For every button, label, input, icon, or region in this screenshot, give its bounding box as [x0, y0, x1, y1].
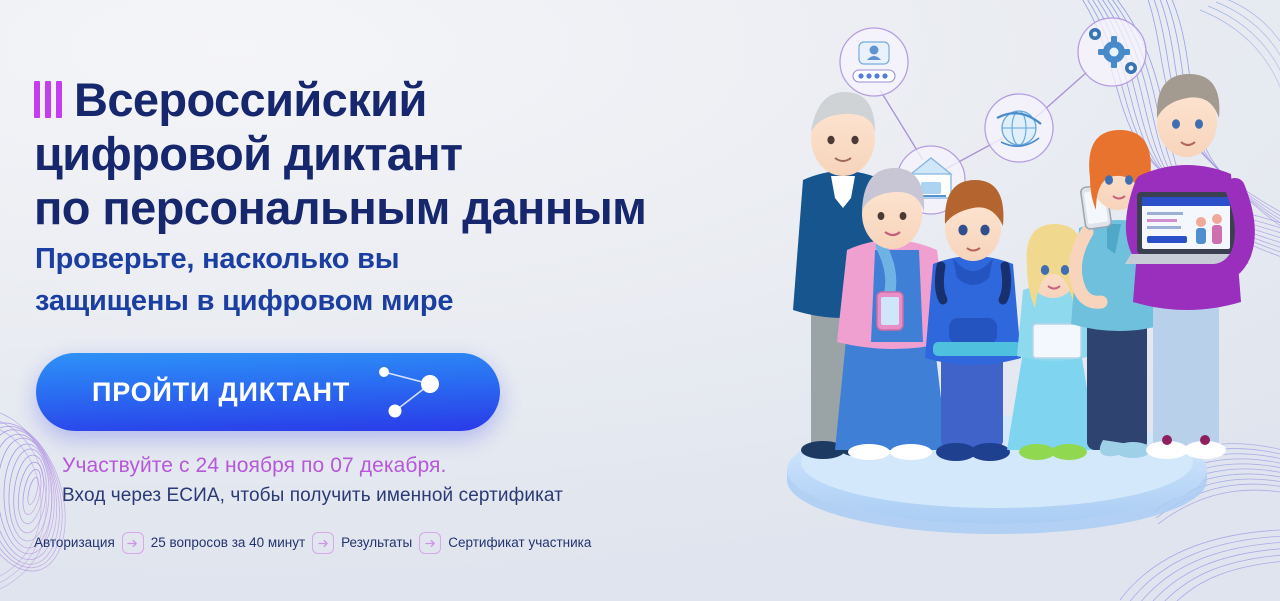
network-nodes-icon [372, 360, 448, 425]
step-label-3: Результаты [341, 534, 412, 552]
password-lock-node-icon [840, 28, 908, 96]
step-label-4: Сертификат участника [448, 534, 591, 552]
page-title: Всероссийский цифровой диктант по персон… [34, 73, 694, 235]
gears-settings-node-icon [1078, 18, 1146, 86]
headline-line-1: Всероссийский [34, 73, 694, 127]
arrow-right-icon [312, 532, 334, 554]
subtitle-line-2: защищены в цифровом мире [35, 280, 595, 322]
globe-network-node-icon [985, 94, 1053, 162]
headline-text-1: Всероссийский [74, 73, 427, 126]
arrow-right-icon [122, 532, 144, 554]
steps-flow: Авторизация 25 вопросов за 40 минут Резу… [34, 532, 591, 554]
headline-line-3: по персональным данным [34, 181, 694, 235]
step-label-2: 25 вопросов за 40 минут [151, 534, 305, 552]
subtitle: Проверьте, насколько вы защищены в цифро… [35, 238, 595, 322]
step-label-1: Авторизация [34, 534, 115, 552]
three-bars-logo-icon [34, 81, 62, 118]
cta-button-label: ПРОЙТИ ДИКТАНТ [92, 377, 350, 408]
headline-line-2: цифровой диктант [34, 127, 694, 181]
subtitle-line-1: Проверьте, насколько вы [35, 238, 595, 280]
banner-content: Всероссийский цифровой диктант по персон… [0, 0, 720, 601]
family-illustration [735, 0, 1280, 601]
promo-banner: Всероссийский цифровой диктант по персон… [0, 0, 1280, 601]
participation-dates: Участвуйте с 24 ноября по 07 декабря. Вх… [62, 452, 662, 510]
dates-period: Участвуйте с 24 ноября по 07 декабря. [62, 452, 662, 480]
dates-esia-note: Вход через ЕСИА, чтобы получить именной … [62, 482, 662, 510]
take-dictation-button[interactable]: ПРОЙТИ ДИКТАНТ [36, 353, 500, 431]
arrow-right-icon [419, 532, 441, 554]
